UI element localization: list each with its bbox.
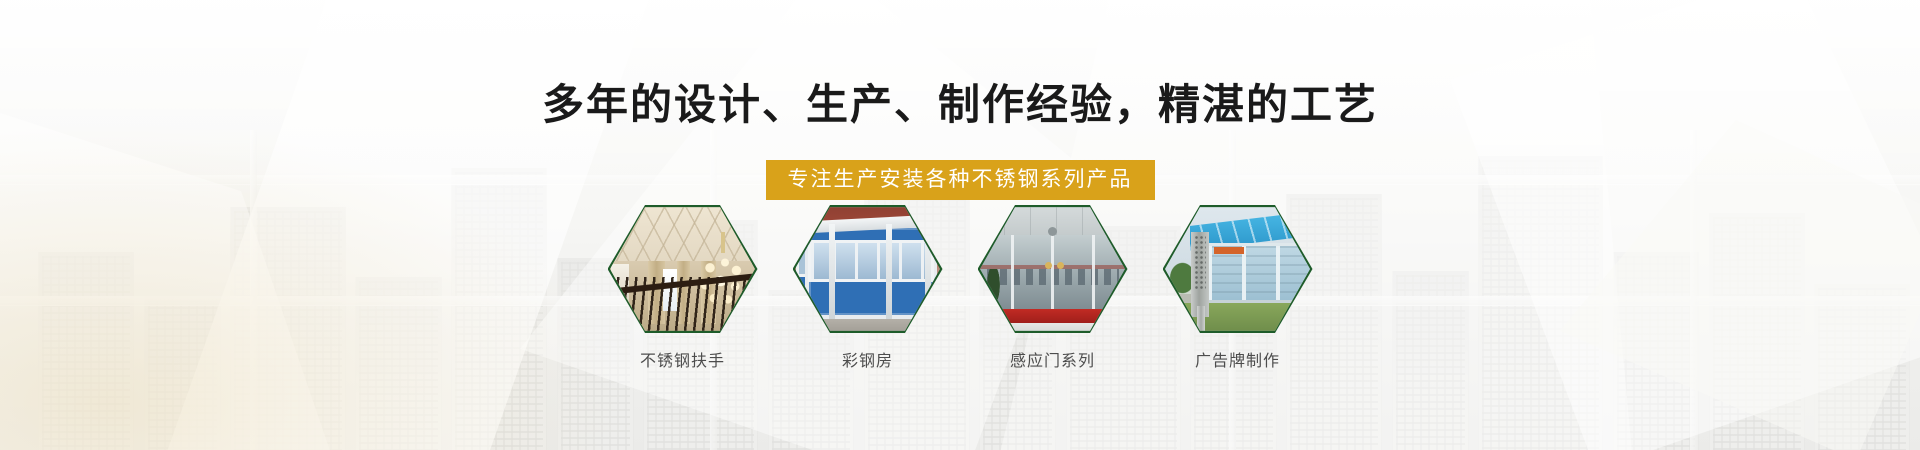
blue-color-steel-guard-booth-photo [793, 203, 943, 335]
hexagon-frame[interactable] [978, 203, 1128, 335]
product-item-handrail[interactable]: 不锈钢扶手 [605, 203, 760, 371]
outdoor-billboard-signage-photo [1163, 203, 1313, 335]
hexagon-frame[interactable] [793, 203, 943, 335]
product-label: 广告牌制作 [1195, 347, 1280, 371]
banner-tagline-badge: 专注生产安装各种不锈钢系列产品 [766, 160, 1155, 200]
product-item-color-steel-house[interactable]: 彩钢房 [790, 203, 945, 371]
promo-banner: 多年的设计、生产、制作经验，精湛的工艺 专注生产安装各种不锈钢系列产品 [0, 0, 1920, 450]
product-label: 感应门系列 [1010, 347, 1095, 371]
stainless-steel-handrail-interior-photo [608, 203, 758, 335]
banner-badge-wrapper: 专注生产安装各种不锈钢系列产品 [0, 160, 1920, 200]
hexagon-frame[interactable] [608, 203, 758, 335]
product-label: 彩钢房 [842, 347, 893, 371]
product-hexagon-row: 不锈钢扶手 [0, 203, 1920, 371]
hexagon-frame[interactable] [1163, 203, 1313, 335]
product-label: 不锈钢扶手 [640, 347, 725, 371]
automatic-sensor-glass-door-photo [978, 203, 1128, 335]
product-item-billboard[interactable]: 广告牌制作 [1160, 203, 1315, 371]
banner-headline: 多年的设计、生产、制作经验，精湛的工艺 [0, 82, 1920, 128]
product-item-sensor-door[interactable]: 感应门系列 [975, 203, 1130, 371]
banner-content: 多年的设计、生产、制作经验，精湛的工艺 专注生产安装各种不锈钢系列产品 [0, 0, 1920, 450]
